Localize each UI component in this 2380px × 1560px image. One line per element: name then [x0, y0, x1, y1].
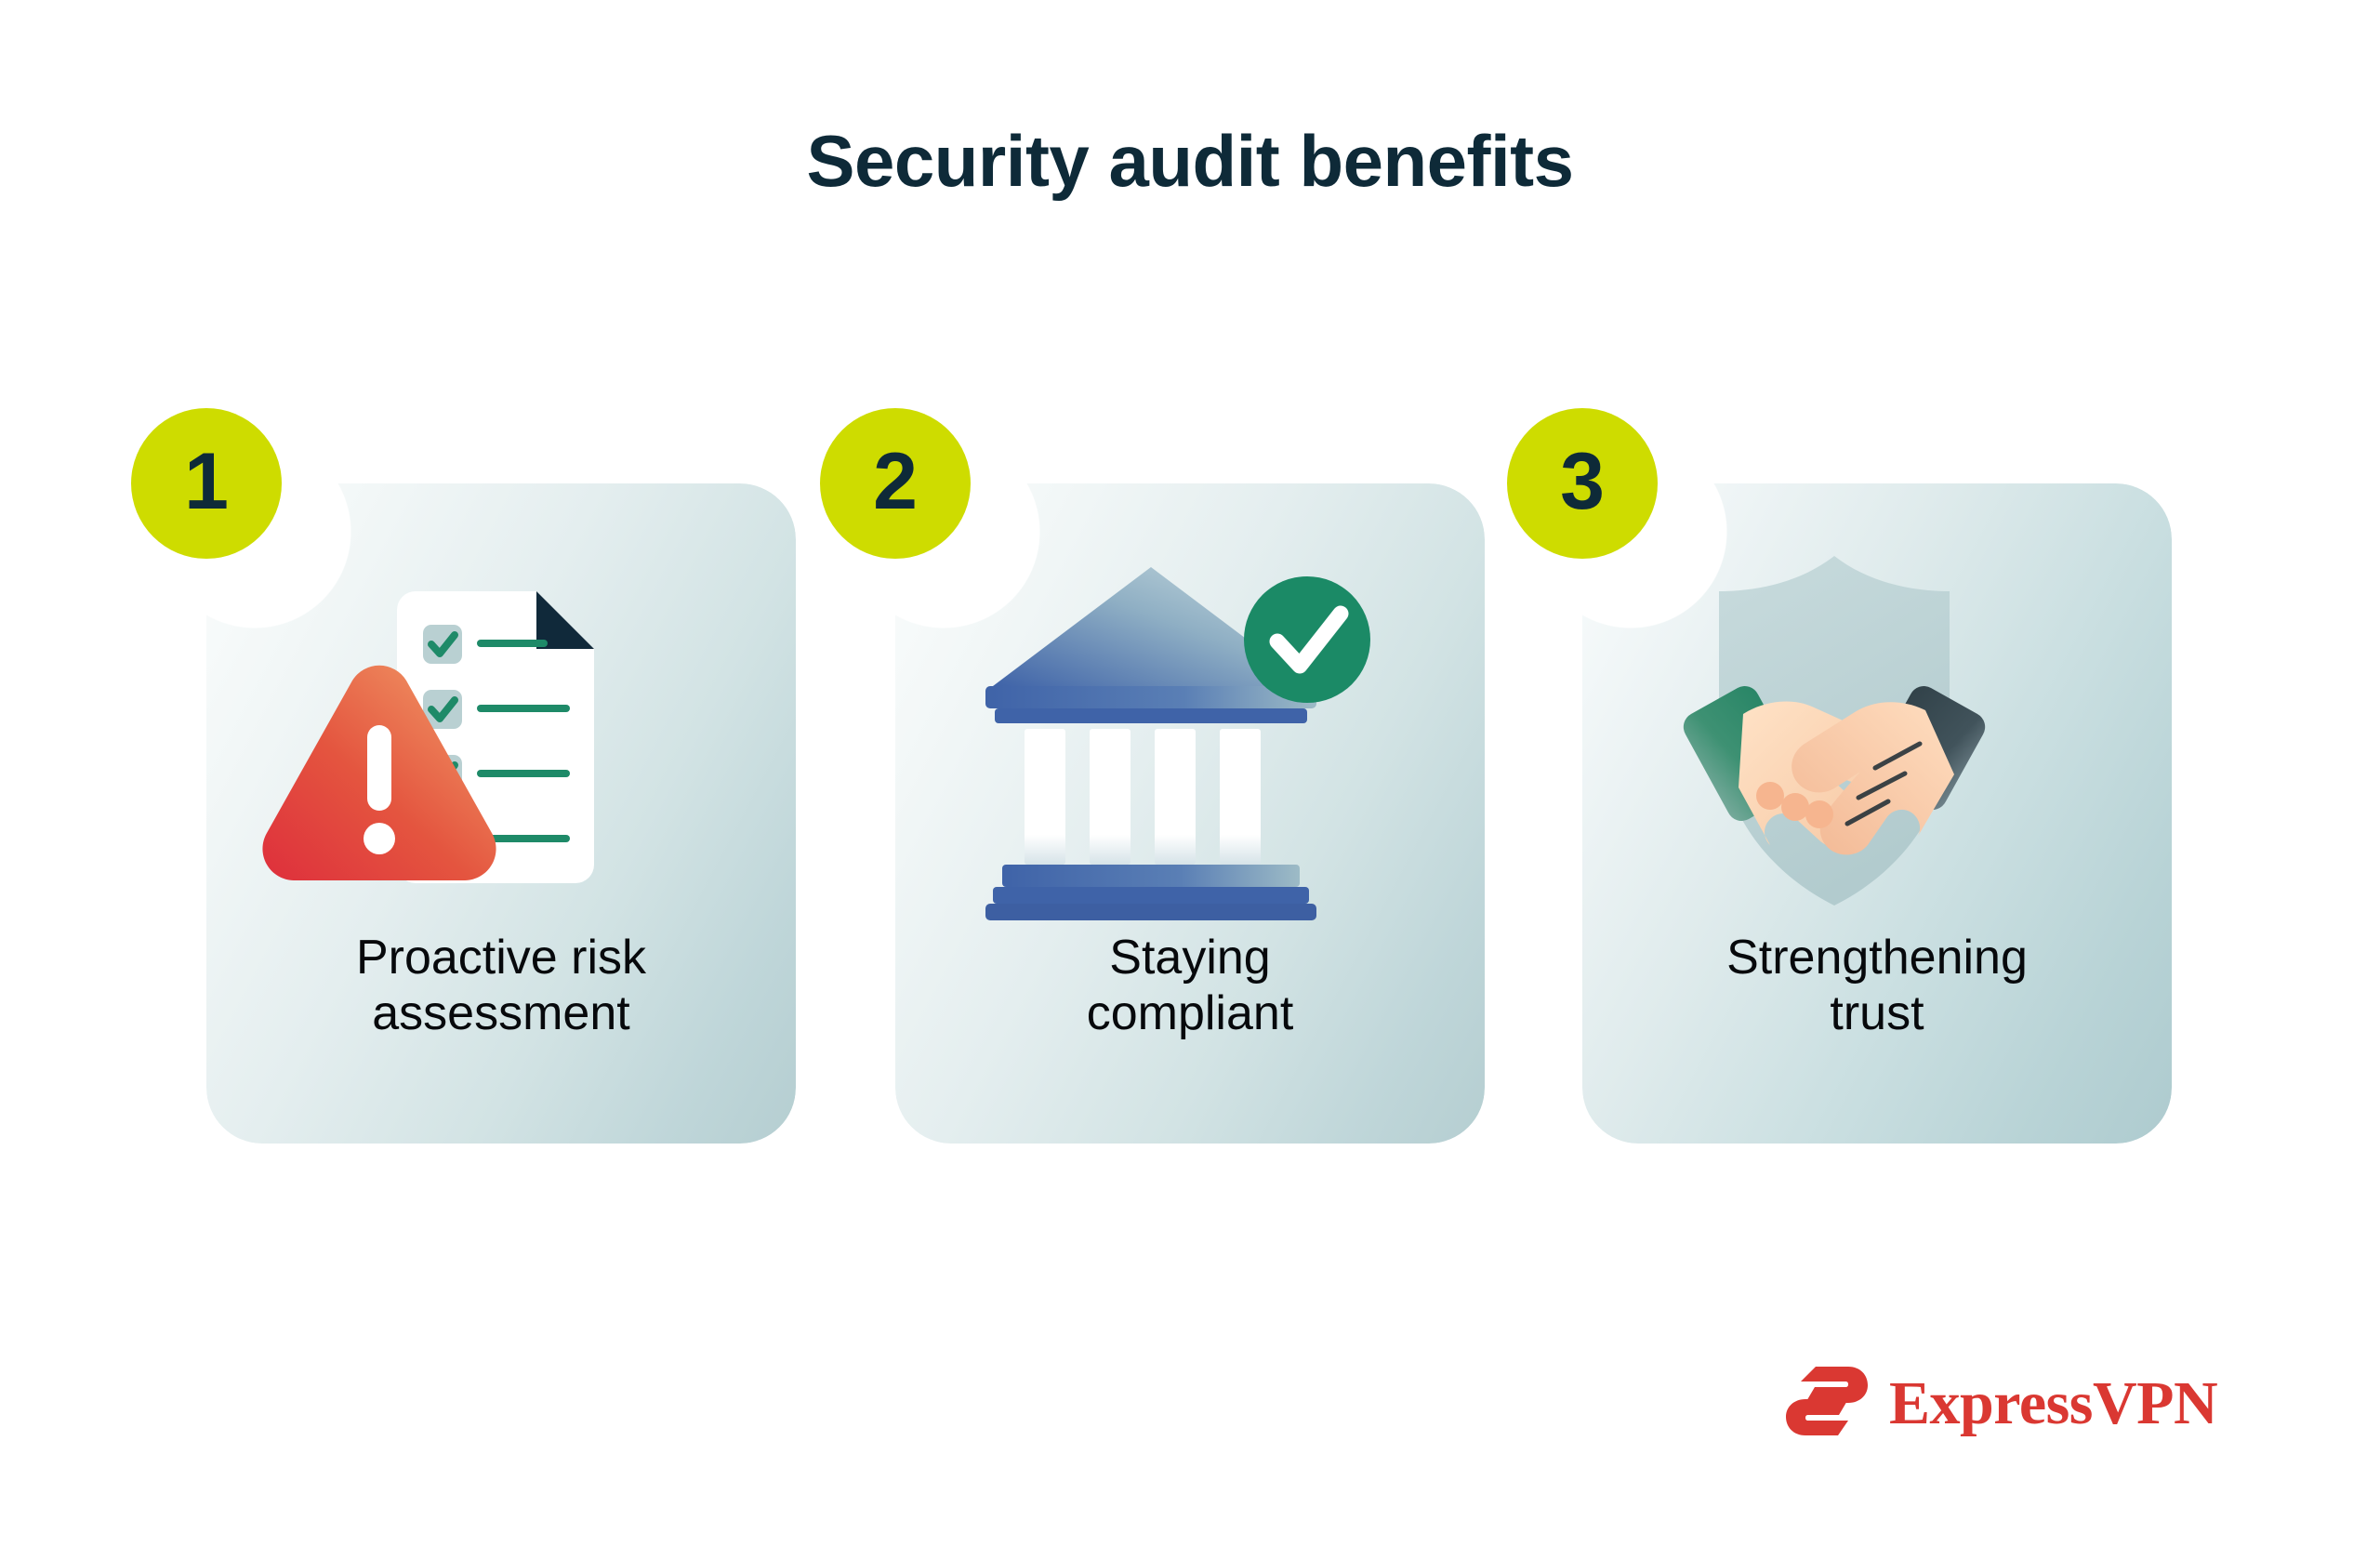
card-number-label: 3	[1560, 442, 1605, 522]
card-number-label: 2	[873, 442, 918, 522]
benefit-card-3: 3	[1582, 483, 2172, 1144]
warning-triangle-and-checklist-icon	[206, 528, 796, 928]
expressvpn-e-mark-icon	[1785, 1365, 1869, 1442]
card-label: Staying compliant	[932, 930, 1448, 1042]
card-label: Proactive risk assessment	[244, 930, 759, 1042]
expressvpn-wordmark: ExpressVPN	[1889, 1373, 2217, 1434]
card-number-badge: 2	[820, 408, 971, 559]
benefit-card-2: 2	[895, 483, 1485, 1144]
shield-with-handshake-icon	[1582, 528, 2172, 928]
card-number-badge: 1	[131, 408, 282, 559]
bank-building-with-check-badge-icon	[895, 528, 1485, 928]
page-title: Security audit benefits	[0, 122, 2380, 202]
card-label: Strengthening trust	[1620, 930, 2135, 1042]
expressvpn-logo[interactable]: ExpressVPN	[1785, 1365, 2217, 1442]
benefits-card-row: 1	[206, 483, 2172, 1144]
card-number-badge: 3	[1507, 408, 1658, 559]
benefit-card-1: 1	[206, 483, 796, 1144]
card-number-label: 1	[184, 442, 229, 522]
